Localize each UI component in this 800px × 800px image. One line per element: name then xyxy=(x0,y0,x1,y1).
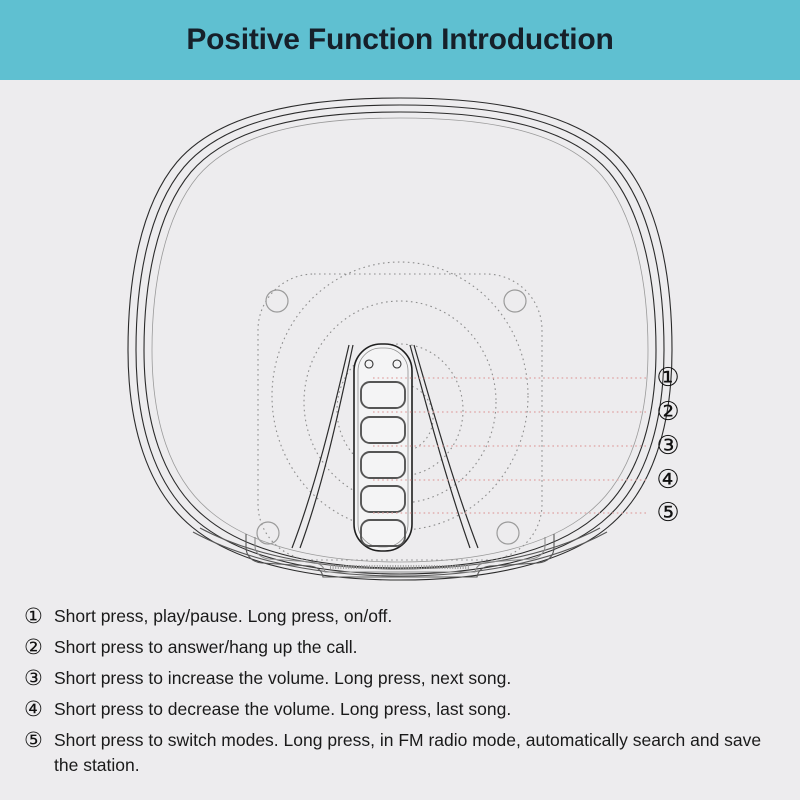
speaker-line-drawing-svg: ① ② ③ ④ ⑤ xyxy=(0,80,800,595)
list-item: ② Short press to answer/hang up the call… xyxy=(24,635,784,660)
page-title: Positive Function Introduction xyxy=(186,23,613,57)
callout-markers: ① ② ③ ④ ⑤ xyxy=(656,363,679,528)
legend-text-4: Short press to decrease the volume. Long… xyxy=(51,697,784,722)
control-button-panel xyxy=(354,344,412,551)
stand-leg-left xyxy=(292,345,349,548)
list-item: ③ Short press to increase the volume. Lo… xyxy=(24,666,784,691)
legend-text-5: Short press to switch modes. Long press,… xyxy=(51,728,784,778)
list-item: ⑤ Short press to switch modes. Long pres… xyxy=(24,728,784,778)
legend-text-3: Short press to increase the volume. Long… xyxy=(51,666,784,691)
legend-marker-5: ⑤ xyxy=(24,728,51,752)
stand-leg-left-2 xyxy=(300,345,353,548)
callout-marker-2: ② xyxy=(656,397,679,427)
screw-hole-bottom-left-icon xyxy=(257,522,279,544)
callout-marker-5: ⑤ xyxy=(656,498,679,528)
header-bar: Positive Function Introduction xyxy=(0,0,800,80)
callout-marker-3: ③ xyxy=(656,431,679,461)
legend-marker-3: ③ xyxy=(24,666,51,690)
legend-marker-2: ② xyxy=(24,635,51,659)
speaker-diagram: ① ② ③ ④ ⑤ xyxy=(0,80,800,595)
legend-text-2: Short press to answer/hang up the call. xyxy=(51,635,784,660)
callout-marker-4: ④ xyxy=(656,465,679,495)
screw-hole-top-left-icon xyxy=(266,290,288,312)
callout-marker-1: ① xyxy=(656,363,679,393)
screw-hole-bottom-right-icon xyxy=(497,522,519,544)
list-item: ① Short press, play/pause. Long press, o… xyxy=(24,604,784,629)
legend-list: ① Short press, play/pause. Long press, o… xyxy=(0,604,800,784)
list-item: ④ Short press to decrease the volume. Lo… xyxy=(24,697,784,722)
callout-leader-lines xyxy=(373,378,646,513)
screw-hole-top-right-icon xyxy=(504,290,526,312)
legend-text-1: Short press, play/pause. Long press, on/… xyxy=(51,604,784,629)
legend-marker-4: ④ xyxy=(24,697,51,721)
legend-marker-1: ① xyxy=(24,604,51,628)
